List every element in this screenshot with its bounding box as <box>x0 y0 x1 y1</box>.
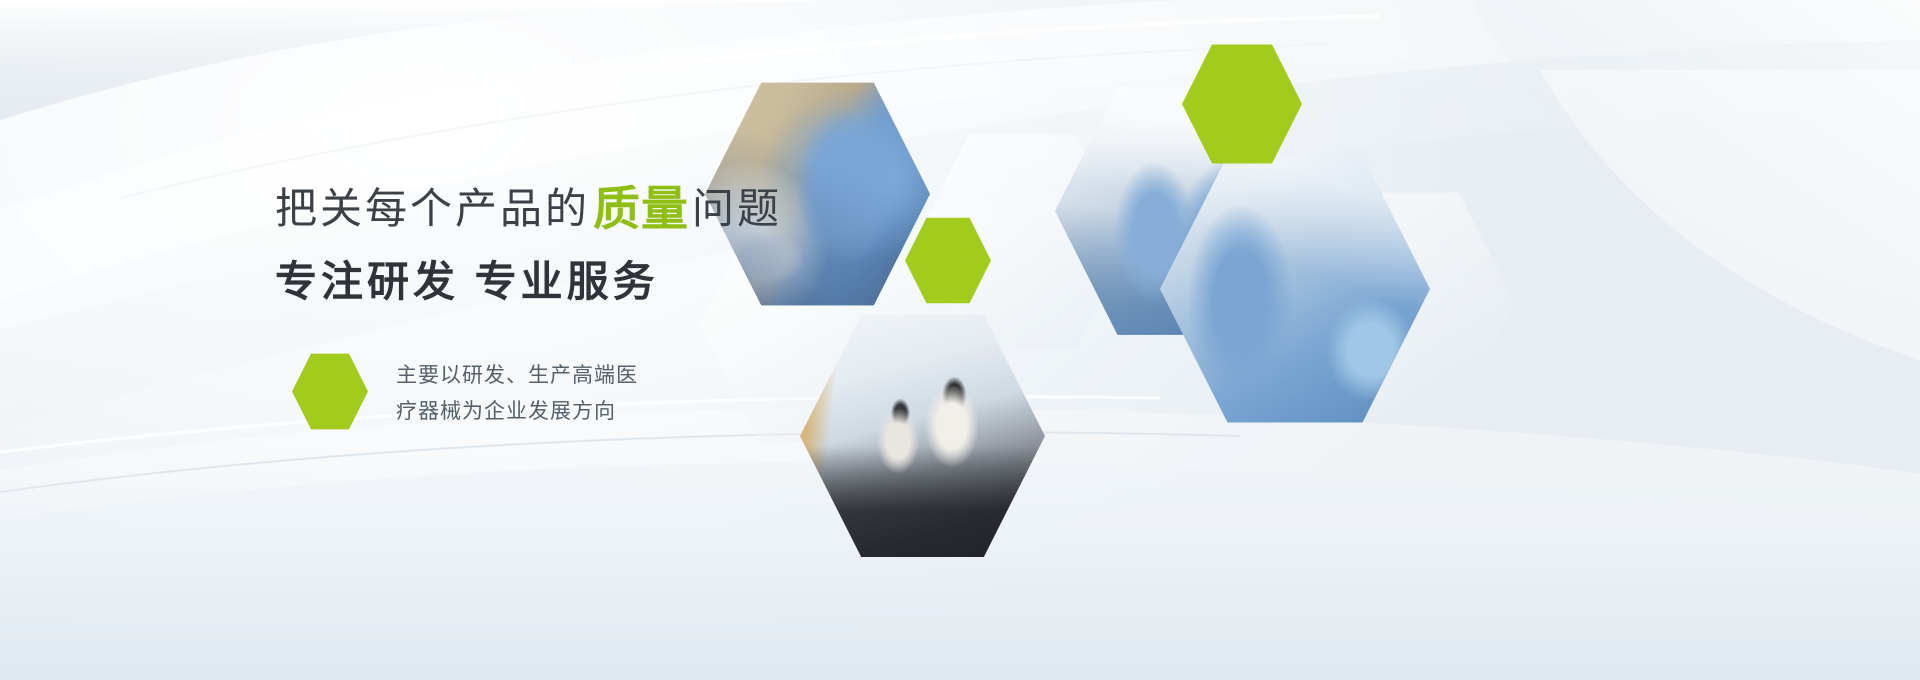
description-line-2: 疗器械为企业发展方向 <box>396 394 696 430</box>
headline-prefix: 把关每个产品的 <box>275 185 590 232</box>
banner-description: 主要以研发、生产高端医 疗器械为企业发展方向 <box>396 358 696 430</box>
description-line-1: 主要以研发、生产高端医 <box>396 358 696 394</box>
banner-headline: 把关每个产品的质量问题 <box>275 178 895 235</box>
headline-accent: 质量 <box>590 182 692 235</box>
hero-banner: 把关每个产品的质量问题 专注研发 专业服务 主要以研发、生产高端医 疗器械为企业… <box>0 0 1920 680</box>
banner-subheadline: 专注研发 专业服务 <box>275 257 895 307</box>
headline-suffix: 问题 <box>692 185 782 232</box>
banner-copy: 把关每个产品的质量问题 专注研发 专业服务 <box>275 178 895 308</box>
